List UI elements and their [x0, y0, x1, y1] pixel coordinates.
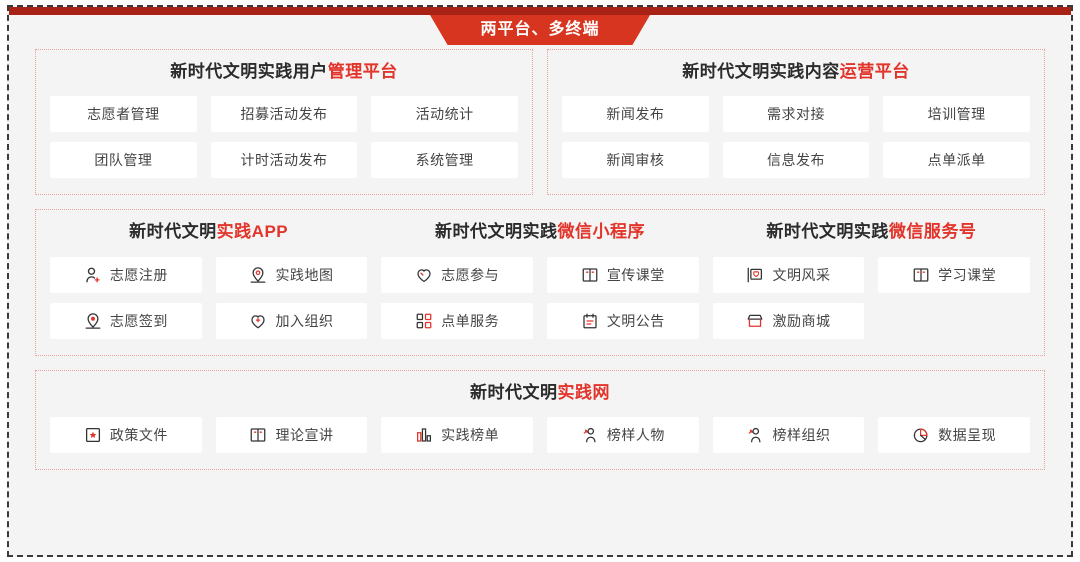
section-title-plain: 新时代文明实践用户: [170, 62, 328, 81]
platform-row: 新时代文明实践用户管理平台 志愿者管理 招募活动发布 活动统计 团队管理 计时活…: [35, 49, 1045, 195]
banner-ribbon: 两平台、多终端: [430, 15, 650, 45]
button-label: 志愿参与: [441, 265, 499, 285]
web-button-policy-documents[interactable]: 政策文件: [50, 417, 202, 453]
button-label: 宣传课堂: [607, 265, 665, 285]
platform-button-activity-statistics[interactable]: 活动统计: [371, 96, 518, 132]
terminal-group-practice-app: 新时代文明实践APP 志愿注册: [50, 222, 367, 338]
map-pin-icon: [249, 266, 267, 284]
banner-ribbon-wrap: 两平台、多终端: [9, 15, 1071, 45]
button-grid: 政策文件 理论宣讲: [50, 417, 1030, 453]
section-title: 新时代文明实践内容运营平台: [562, 62, 1030, 82]
poster-frame: 两平台、多终端 新时代文明实践用户管理平台 志愿者管理 招募活动发布 活动统计 …: [7, 5, 1073, 557]
button-label: 数据呈现: [938, 425, 996, 445]
group-people-icon: [746, 426, 764, 444]
button-label: 文明风采: [772, 265, 830, 285]
group-title: 新时代文明实践微信小程序: [381, 222, 698, 242]
row-spacer: [35, 195, 1045, 209]
person-star-icon: [581, 426, 599, 444]
heart-plus-icon: [249, 312, 267, 330]
service-button-study-classroom[interactable]: 学习课堂: [878, 257, 1030, 293]
apps-grid-icon: [415, 312, 433, 330]
bar-chart-icon: [415, 426, 433, 444]
button-label: 实践榜单: [441, 425, 499, 445]
platform-button-timed-activity-publish[interactable]: 计时活动发布: [211, 142, 358, 178]
banner-title: 两平台、多终端: [480, 22, 599, 39]
group-title-accent: 实践APP: [217, 222, 288, 241]
group-title-accent: 微信服务号: [889, 222, 977, 241]
section-user-management-platform: 新时代文明实践用户管理平台 志愿者管理 招募活动发布 活动统计 团队管理 计时活…: [35, 49, 533, 195]
platform-button-recruitment-activity-publish[interactable]: 招募活动发布: [211, 96, 358, 132]
button-label: 文明公告: [607, 311, 665, 331]
open-book-icon: [581, 266, 599, 284]
miniprogram-button-volunteer-participate[interactable]: 志愿参与: [381, 257, 533, 293]
shop-icon: [746, 312, 764, 330]
button-label: 理论宣讲: [275, 425, 333, 445]
section-practice-website: 新时代文明实践网 政策文件: [35, 370, 1045, 470]
button-label: 政策文件: [110, 425, 168, 445]
section-title: 新时代文明实践用户管理平台: [50, 62, 518, 82]
web-button-role-model-organization[interactable]: 榜样组织: [713, 417, 865, 453]
section-content-operation-platform: 新时代文明实践内容运营平台 新闻发布 需求对接 培训管理 新闻审核 信息发布 点…: [547, 49, 1045, 195]
button-grid: 新闻发布 需求对接 培训管理 新闻审核 信息发布 点单派单: [562, 96, 1030, 178]
platform-button-news-publish[interactable]: 新闻发布: [562, 96, 709, 132]
miniprogram-button-civilization-announcement[interactable]: 文明公告: [547, 303, 699, 339]
web-button-practice-ranking[interactable]: 实践榜单: [381, 417, 533, 453]
group-title: 新时代文明实践APP: [50, 222, 367, 242]
platform-button-training-management[interactable]: 培训管理: [883, 96, 1030, 132]
miniprogram-button-order-service[interactable]: 点单服务: [381, 303, 533, 339]
sections-container: 新时代文明实践用户管理平台 志愿者管理 招募活动发布 活动统计 团队管理 计时活…: [9, 49, 1071, 555]
platform-button-team-management[interactable]: 团队管理: [50, 142, 197, 178]
section-title-accent: 管理平台: [328, 62, 398, 81]
platform-button-demand-matching[interactable]: 需求对接: [723, 96, 870, 132]
group-title-plain: 新时代文明实践: [435, 222, 558, 241]
platform-button-order-dispatch[interactable]: 点单派单: [883, 142, 1030, 178]
group-title-plain: 新时代文明实践: [766, 222, 889, 241]
button-grid: 文明风采 学习课堂: [713, 257, 1030, 339]
app-button-practice-map[interactable]: 实践地图: [216, 257, 368, 293]
section-terminals: 新时代文明实践APP 志愿注册: [35, 209, 1045, 355]
platform-button-system-management[interactable]: 系统管理: [371, 142, 518, 178]
button-label: 加入组织: [275, 311, 333, 331]
terminal-groups: 新时代文明实践APP 志愿注册: [50, 222, 1030, 338]
group-title-accent: 微信小程序: [557, 222, 645, 241]
section-title: 新时代文明实践网: [50, 383, 1030, 403]
badge-heart-icon: [746, 266, 764, 284]
open-book-icon: [249, 426, 267, 444]
button-label: 学习课堂: [938, 265, 996, 285]
group-title-plain: 新时代文明: [129, 222, 217, 241]
button-label: 实践地图: [275, 265, 333, 285]
terminal-group-wechat-service-account: 新时代文明实践微信服务号 文明风采: [713, 222, 1030, 338]
app-button-volunteer-checkin[interactable]: 志愿签到: [50, 303, 202, 339]
platform-button-volunteer-management[interactable]: 志愿者管理: [50, 96, 197, 132]
group-title: 新时代文明实践微信服务号: [713, 222, 1030, 242]
web-button-theory-lecture[interactable]: 理论宣讲: [216, 417, 368, 453]
app-button-join-organization[interactable]: 加入组织: [216, 303, 368, 339]
terminal-group-wechat-miniprogram: 新时代文明实践微信小程序 志愿参与: [381, 222, 698, 338]
heart-icon: [415, 266, 433, 284]
row-spacer: [35, 356, 1045, 370]
button-label: 志愿注册: [110, 265, 168, 285]
platform-button-news-review[interactable]: 新闻审核: [562, 142, 709, 178]
web-button-role-model-person[interactable]: 榜样人物: [547, 417, 699, 453]
pie-chart-icon: [912, 426, 930, 444]
app-button-volunteer-register[interactable]: 志愿注册: [50, 257, 202, 293]
top-red-bar: [9, 7, 1071, 15]
button-grid: 志愿参与 宣传课堂: [381, 257, 698, 339]
button-label: 榜样组织: [772, 425, 830, 445]
button-label: 激励商城: [772, 311, 830, 331]
service-button-civilization-style[interactable]: 文明风采: [713, 257, 865, 293]
button-label: 榜样人物: [607, 425, 665, 445]
web-button-data-presentation[interactable]: 数据呈现: [878, 417, 1030, 453]
location-checkin-icon: [84, 312, 102, 330]
person-add-icon: [84, 266, 102, 284]
miniprogram-button-publicity-classroom[interactable]: 宣传课堂: [547, 257, 699, 293]
platform-button-information-publish[interactable]: 信息发布: [723, 142, 870, 178]
section-title-plain: 新时代文明: [470, 383, 558, 402]
announcement-board-icon: [581, 312, 599, 330]
button-grid: 志愿者管理 招募活动发布 活动统计 团队管理 计时活动发布 系统管理: [50, 96, 518, 178]
section-title-accent: 实践网: [558, 383, 611, 402]
button-grid: 志愿注册 实践地图: [50, 257, 367, 339]
section-title-accent: 运营平台: [840, 62, 910, 81]
section-title-plain: 新时代文明实践内容: [682, 62, 840, 81]
button-label: 志愿签到: [110, 311, 168, 331]
empty-slot: [878, 303, 1030, 339]
service-button-incentive-mall[interactable]: 激励商城: [713, 303, 865, 339]
button-label: 点单服务: [441, 311, 499, 331]
open-book-icon: [912, 266, 930, 284]
policy-doc-icon: [84, 426, 102, 444]
